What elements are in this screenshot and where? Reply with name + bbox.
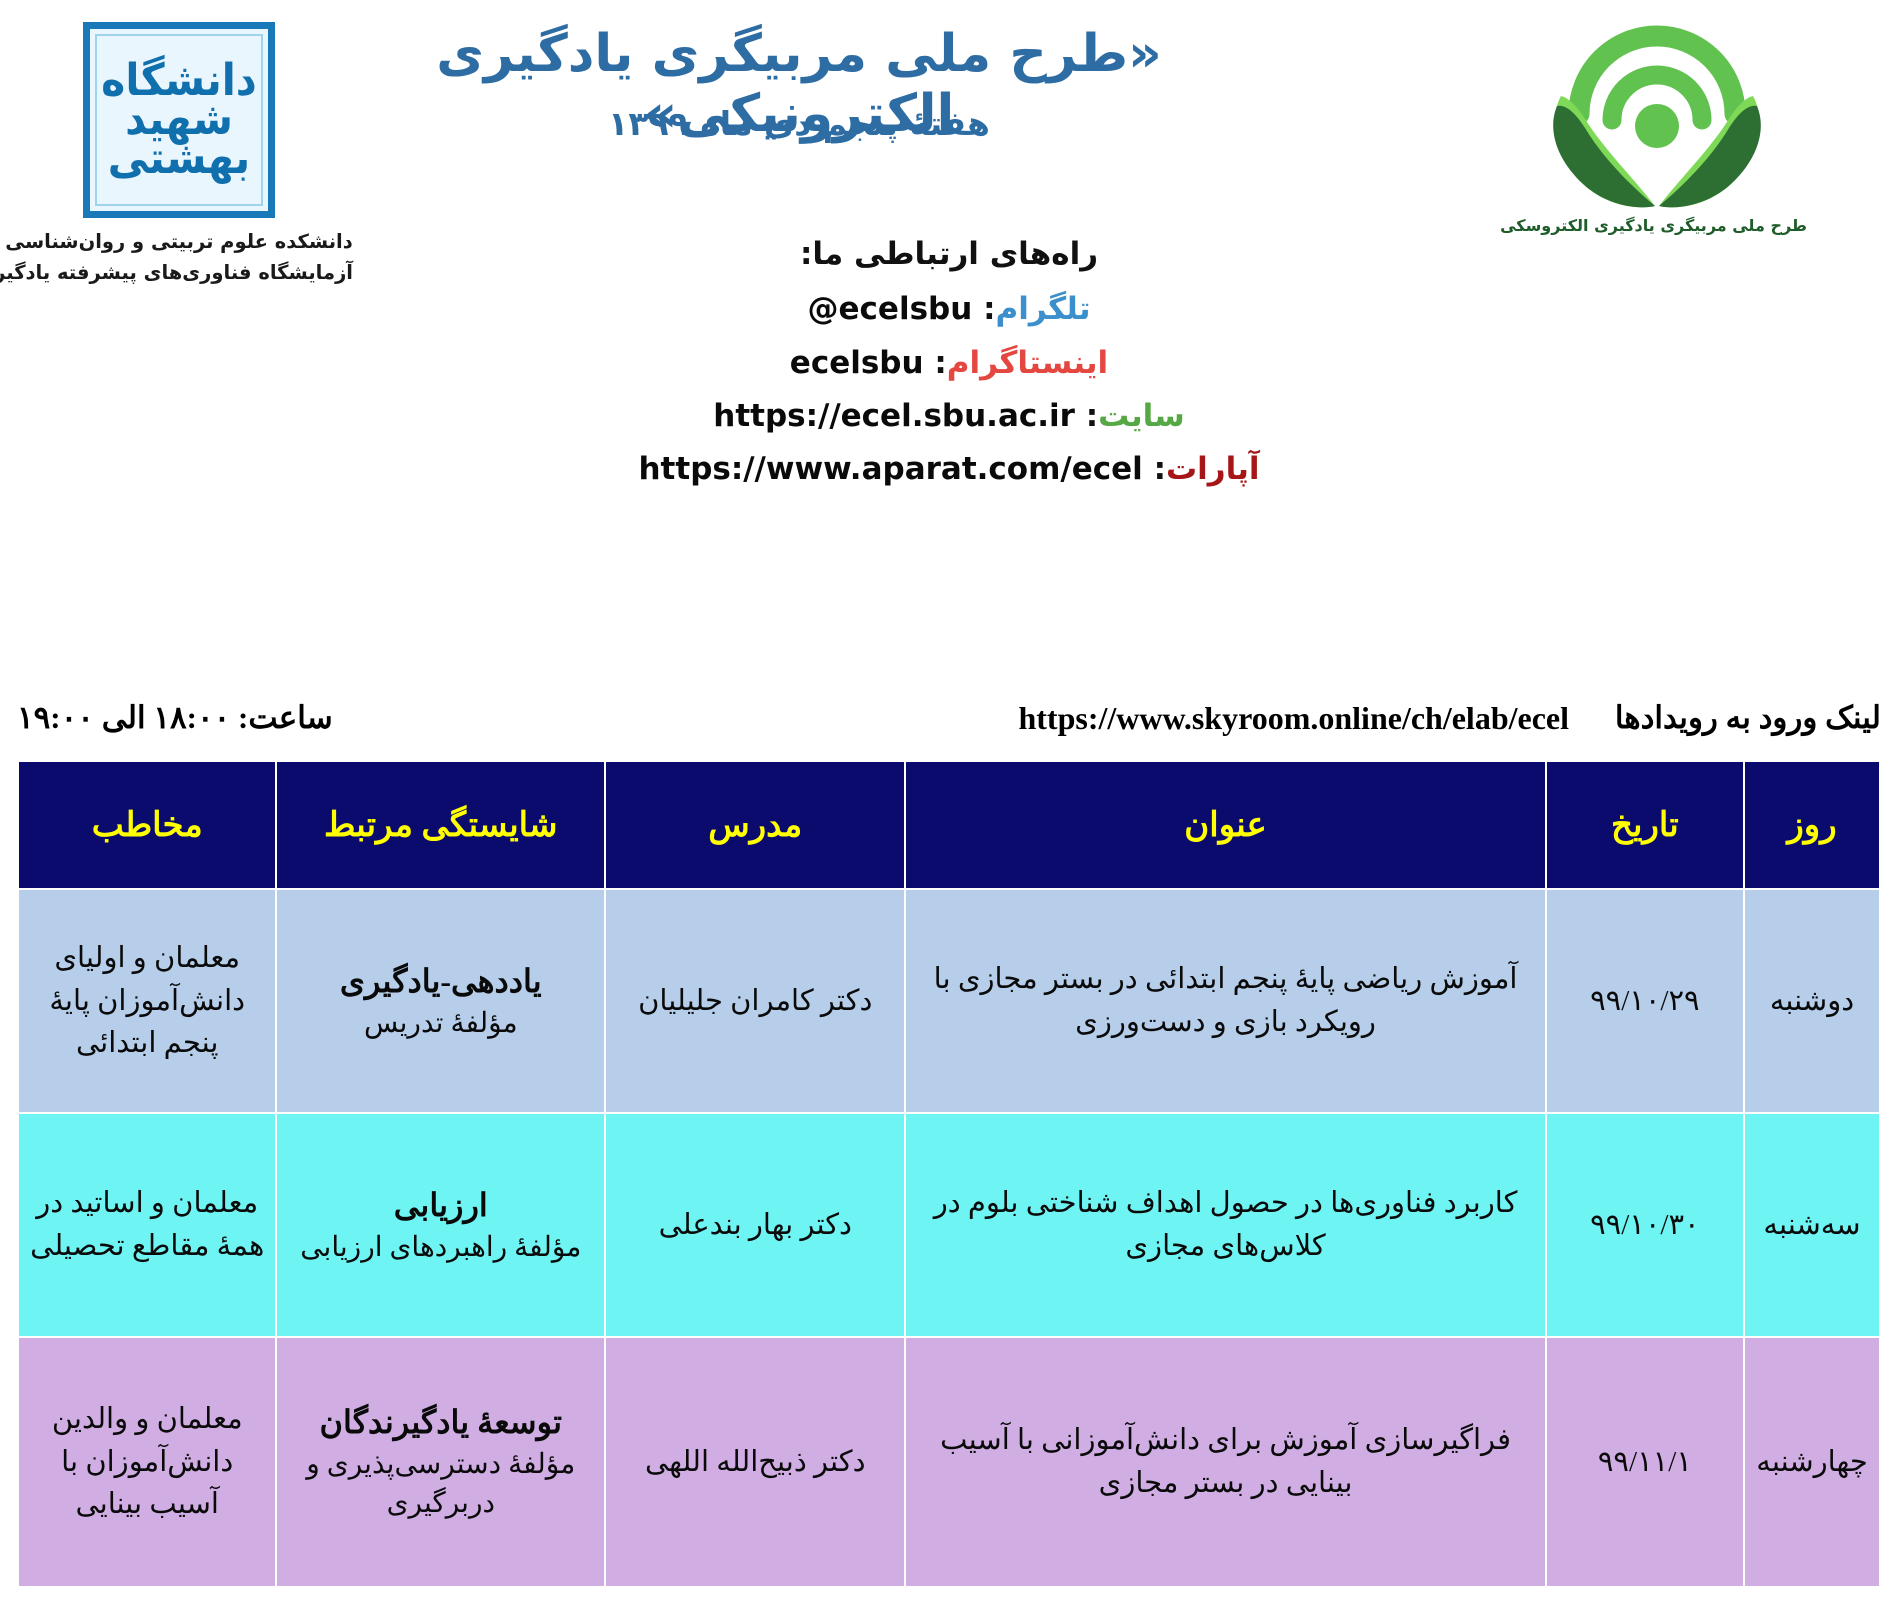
- contact-row-telegram: تلگرام: @ecelsbu: [0, 283, 1900, 336]
- row1-audience: معلمان و اولیای دانش‌آموزان پایهٔ پنجم ا…: [19, 889, 277, 1113]
- poster-page: دانشگاه شهید بهشتی دانشکده علوم تربیتی و…: [0, 0, 1900, 1620]
- contact-row-instagram: اینستاگرام: ecelsbu: [0, 337, 1900, 390]
- sep-aparat: :: [1155, 451, 1167, 487]
- shahid-beheshti-university-logo-icon: دانشگاه شهید بهشتی: [84, 22, 276, 218]
- row1-competency-main: یاددهی-یادگیری: [288, 959, 595, 1004]
- row2-day: سه‌شنبه: [1745, 1113, 1881, 1337]
- row3-competency-main: توسعهٔ یادگیرندگان: [288, 1400, 595, 1445]
- table-row: دوشنبه ۹۹/۱۰/۲۹ آموزش ریاضی پایهٔ پنجم ا…: [19, 889, 1881, 1113]
- ecel-branding-block: طرح ملی مربیگری یادگیری الکتروسکی: [1508, 10, 1808, 235]
- instagram-label: اینستاگرام: [948, 345, 1109, 381]
- row2-teacher: دکتر بهار بندعلی: [606, 1113, 906, 1337]
- row3-competency-sub: مؤلفهٔ دسترسی‌پذیری و دربرگیری: [288, 1445, 595, 1525]
- logo-calligraphy: دانشگاه شهید بهشتی: [91, 22, 269, 219]
- col-header-title: عنوان: [906, 761, 1546, 889]
- event-link-label: لینک ورود به رویدادها: [1616, 700, 1882, 736]
- contact-heading: راه‌های ارتباطی ما:: [0, 228, 1900, 281]
- row1-date: ۹۹/۱۰/۲۹: [1547, 889, 1745, 1113]
- col-header-day: روز: [1745, 761, 1881, 889]
- row1-competency-sub: مؤلفهٔ تدریس: [288, 1004, 595, 1044]
- contact-row-website: سایت: https://ecel.sbu.ac.ir: [0, 390, 1900, 443]
- schedule-table-head: روز تاریخ عنوان مدرس شایستگی مرتبط مخاطب: [19, 761, 1881, 889]
- row3-title: فراگیرسازی آموزش برای دانش‌آموزانی با آس…: [906, 1337, 1546, 1587]
- instagram-handle[interactable]: ecelsbu: [791, 337, 925, 390]
- table-header-row: روز تاریخ عنوان مدرس شایستگی مرتبط مخاطب: [19, 761, 1881, 889]
- row1-teacher: دکتر کامران جلیلیان: [606, 889, 906, 1113]
- row2-audience: معلمان و اساتید در همهٔ مقاطع تحصیلی: [19, 1113, 277, 1337]
- row1-competency: یاددهی-یادگیری مؤلفهٔ تدریس: [277, 889, 606, 1113]
- row3-date: ۹۹/۱۱/۱: [1547, 1337, 1745, 1587]
- aparat-url[interactable]: https://www.aparat.com/ecel: [639, 443, 1143, 496]
- skyroom-event-url[interactable]: https://www.skyroom.online/ch/elab/ecel: [1019, 700, 1570, 737]
- telegram-label: تلگرام: [997, 291, 1092, 327]
- sep-telegram: :: [984, 291, 996, 327]
- website-url[interactable]: https://ecel.sbu.ac.ir: [714, 390, 1076, 443]
- table-row: چهارشنبه ۹۹/۱۱/۱ فراگیرسازی آموزش برای د…: [19, 1337, 1881, 1587]
- row3-audience: معلمان و والدین دانش‌آموزان با آسیب بینا…: [19, 1337, 277, 1587]
- row1-title: آموزش ریاضی پایهٔ پنجم ابتدائی در بستر م…: [906, 889, 1546, 1113]
- sep-site: :: [1087, 398, 1099, 434]
- row3-teacher: دکتر ذبیح‌الله اللهی: [606, 1337, 906, 1587]
- row3-competency: توسعهٔ یادگیرندگان مؤلفهٔ دسترسی‌پذیری و…: [277, 1337, 606, 1587]
- page-subtitle: هفتهٔ پنجم دی ماه ۱۳۹۹: [300, 104, 1300, 143]
- ecel-program-logo-icon: [1528, 10, 1788, 210]
- telegram-handle[interactable]: @ecelsbu: [809, 283, 974, 336]
- logo-line-3: بهشتی: [109, 138, 251, 179]
- row2-title: کاربرد فناوری‌ها در حصول اهداف شناختی بل…: [906, 1113, 1546, 1337]
- row2-competency-sub: مؤلفهٔ راهبردهای ارزیابی: [288, 1228, 595, 1268]
- col-header-teacher: مدرس: [606, 761, 906, 889]
- col-header-audience: مخاطب: [19, 761, 277, 889]
- event-time-range: ساعت: ۱۸:۰۰ الی ۱۹:۰۰: [18, 700, 334, 736]
- table-row: سه‌شنبه ۹۹/۱۰/۳۰ کاربرد فناوری‌ها در حصو…: [19, 1113, 1881, 1337]
- row2-competency: ارزیابی مؤلفهٔ راهبردهای ارزیابی: [277, 1113, 606, 1337]
- schedule-table: روز تاریخ عنوان مدرس شایستگی مرتبط مخاطب…: [18, 760, 1882, 1588]
- schedule-table-container: روز تاریخ عنوان مدرس شایستگی مرتبط مخاطب…: [18, 760, 1882, 1588]
- row2-competency-main: ارزیابی: [288, 1183, 595, 1228]
- col-header-date: تاریخ: [1547, 761, 1745, 889]
- sep-instagram: :: [935, 345, 947, 381]
- aparat-label: آپارات: [1167, 451, 1261, 487]
- contact-block: راه‌های ارتباطی ما: تلگرام: @ecelsbu این…: [0, 228, 1900, 497]
- contact-row-aparat: آپارات: https://www.aparat.com/ecel: [0, 443, 1900, 496]
- row1-day: دوشنبه: [1745, 889, 1881, 1113]
- website-label: سایت: [1099, 398, 1186, 434]
- schedule-table-body: دوشنبه ۹۹/۱۰/۲۹ آموزش ریاضی پایهٔ پنجم ا…: [19, 889, 1881, 1587]
- event-link-bar: لینک ورود به رویدادها https://www.skyroo…: [0, 700, 1900, 752]
- col-header-competency: شایستگی مرتبط: [277, 761, 606, 889]
- row3-day: چهارشنبه: [1745, 1337, 1881, 1587]
- row2-date: ۹۹/۱۰/۳۰: [1547, 1113, 1745, 1337]
